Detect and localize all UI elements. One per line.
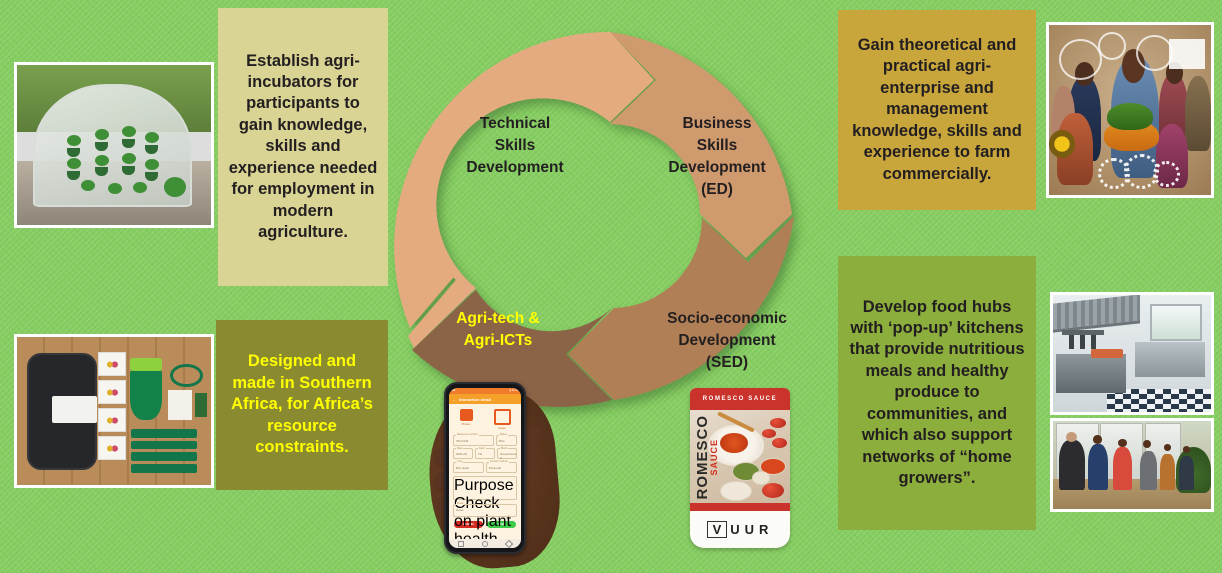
- callout-agri-incubators-text: Establish agri-incubators for participan…: [228, 51, 378, 244]
- phone-mockup: ■■ ▮ 11:24 ← Interaction detail Photos N…: [432, 382, 562, 562]
- callout-food-hubs: Develop food hubs with ‘pop-up’ kitchens…: [838, 256, 1036, 530]
- callout-designed-in-africa-text: Designed and made in Southern Africa, fo…: [226, 351, 378, 458]
- back-arrow-icon[interactable]: ←: [452, 397, 456, 402]
- jar-vertical-secondary: SAUCE: [709, 439, 719, 476]
- field-reference-number-label: Reference number: [456, 433, 479, 436]
- field-date-label: Date: [456, 447, 463, 450]
- photo-home-growers-group: [1050, 418, 1214, 512]
- field-reference-number-value: INT-0142: [456, 439, 468, 443]
- cycle-segment-technical-skills-body[interactable]: [408, 32, 654, 348]
- field-block-value: Greenhouse A: [500, 452, 517, 460]
- field-block-label: Block: [500, 447, 508, 450]
- field-mood[interactable]: Mood Good: [453, 504, 517, 517]
- field-block[interactable]: Block Greenhouse A: [497, 448, 517, 459]
- callout-agri-enterprise: Gain theoretical and practical agri-ente…: [838, 10, 1036, 210]
- field-mood-value: Good: [456, 508, 463, 512]
- camera-icon: [460, 409, 473, 421]
- field-status-label: Status: [499, 433, 508, 436]
- app-bar: ← Interaction detail: [449, 394, 521, 404]
- field-farm-value: TG: [478, 452, 482, 456]
- field-contact-method-value: Personal: [489, 466, 501, 470]
- tab-photos-label: Photos: [460, 422, 473, 426]
- field-mood-label: Mood: [456, 502, 464, 505]
- field-contact-method[interactable]: Contact method Personal: [486, 462, 517, 473]
- field-status-value: Pilot: [499, 439, 505, 443]
- android-nav-bar: [449, 539, 521, 548]
- square-icon[interactable]: [458, 541, 464, 547]
- field-row-3: Crop Box stack Contact method Personal: [453, 462, 517, 473]
- field-reference-number[interactable]: Reference number INT-0142: [453, 435, 494, 446]
- jar-lower-band: [690, 503, 790, 511]
- tab-photos[interactable]: Photos: [460, 409, 473, 430]
- jar-top-band-text: ROMESCO SAUCE: [703, 396, 777, 402]
- status-left: ■■: [452, 388, 455, 394]
- tab-notes-label: Notes: [494, 426, 511, 430]
- photo-grow-kit: [14, 334, 214, 488]
- tab-notes[interactable]: Notes: [494, 409, 511, 430]
- field-crop-value: Box stack: [456, 466, 469, 470]
- field-farm-label: Farm: [478, 447, 486, 450]
- clipboard-icon: [494, 409, 511, 425]
- jar-photo-panel: ROMESCO SAUCE: [690, 410, 790, 503]
- jar-brand: V UUR: [690, 511, 790, 548]
- field-contact-method-label: Contact method: [489, 460, 509, 463]
- sauce-jar-product: ROMESCO SAUCE ROMESCO SAUCE V UUR: [690, 388, 790, 548]
- phone-screen[interactable]: ■■ ▮ 11:24 ← Interaction detail Photos N…: [449, 388, 521, 548]
- callout-agri-enterprise-text: Gain theoretical and practical agri-ente…: [848, 35, 1026, 185]
- callout-food-hubs-text: Develop food hubs with ‘pop-up’ kitchens…: [848, 297, 1026, 490]
- jar-vertical-title: ROMESCO SAUCE: [694, 416, 716, 498]
- jar-top-band: ROMESCO SAUCE: [690, 388, 790, 410]
- field-crop[interactable]: Crop Box stack: [453, 462, 484, 473]
- field-row-1: Reference number INT-0142 Status Pilot: [453, 435, 517, 446]
- app-title: Interaction detail: [459, 397, 491, 402]
- field-date[interactable]: Date 2021-02: [453, 448, 473, 459]
- app-tabs: Photos Notes: [449, 404, 521, 432]
- field-farm[interactable]: Farm TG: [475, 448, 495, 459]
- field-crop-label: Crop: [456, 460, 463, 463]
- circle-icon[interactable]: [482, 541, 488, 547]
- jar-brand-rest: UUR: [730, 522, 773, 537]
- photo-greenhouse-tunnel: [14, 62, 214, 228]
- photo-commercial-kitchen: [1050, 292, 1214, 415]
- back-triangle-icon[interactable]: [505, 539, 513, 547]
- field-status[interactable]: Status Pilot: [496, 435, 517, 446]
- phone-body: ■■ ▮ 11:24 ← Interaction detail Photos N…: [444, 382, 526, 554]
- status-right: ▮ 11:24: [510, 388, 518, 394]
- jar-brand-initial: V: [707, 521, 728, 538]
- field-purpose-label: Purpose: [454, 477, 516, 495]
- callout-agri-incubators: Establish agri-incubators for participan…: [218, 8, 388, 286]
- field-date-value: 2021-02: [456, 452, 467, 456]
- photo-agri-entrepreneurs-collage: [1046, 22, 1214, 198]
- callout-designed-in-africa: Designed and made in Southern Africa, fo…: [216, 320, 388, 490]
- field-purpose[interactable]: Purpose Check on plant health: [453, 476, 517, 500]
- field-row-2: Date 2021-02 Farm TG Block Greenhouse A: [453, 448, 517, 459]
